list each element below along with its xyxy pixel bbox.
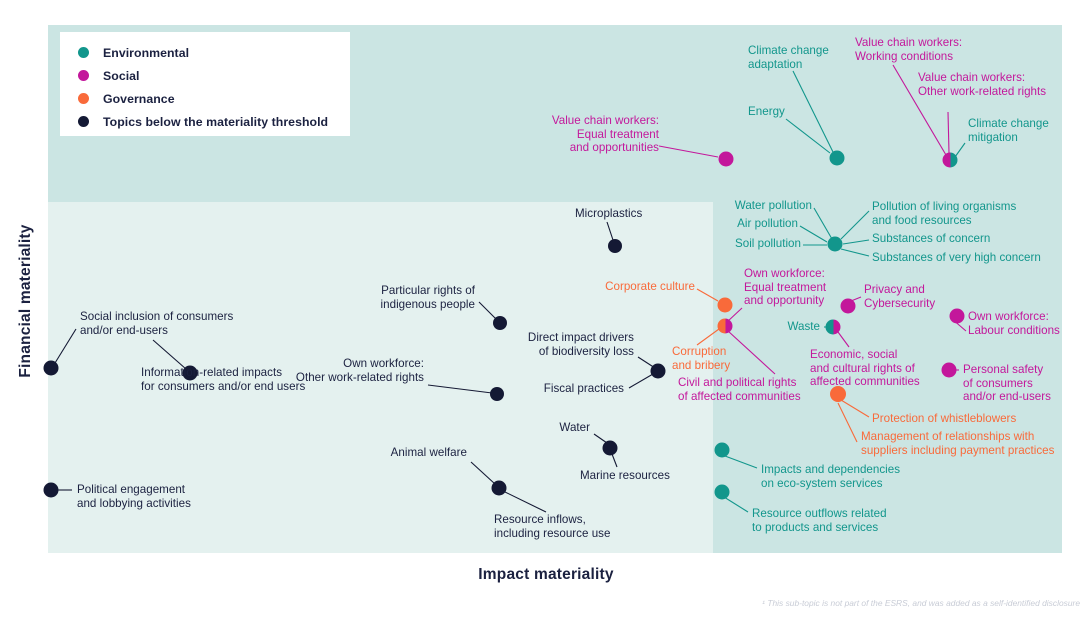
label-value-chain-working-conditions: Value chain workers: Working conditions — [855, 36, 962, 63]
data-point-water-marine-resources[interactable] — [603, 441, 618, 456]
data-point-value-chain-equal-treatment[interactable] — [719, 152, 734, 167]
legend-label-social: Social — [103, 69, 140, 83]
label-fiscal-practices: Fiscal practices — [470, 382, 624, 396]
label-substances-very-high-concern: Substances of very high concern — [872, 251, 1041, 265]
label-corruption-and-bribery: Corruption and bribery — [672, 345, 730, 372]
label-air-pollution: Air pollution — [694, 217, 798, 231]
materiality-matrix-chart: Value chain workers: Equal treatment and… — [0, 0, 1092, 623]
label-water: Water — [466, 421, 590, 435]
legend-dot-below-threshold — [78, 116, 89, 127]
chart-legend: Environmental Social Governance Topics b… — [60, 32, 350, 136]
data-point-climate-adaptation-energy[interactable] — [830, 151, 845, 166]
label-resource-outflows: Resource outflows related to products an… — [752, 507, 887, 534]
data-point-pollution-cluster[interactable] — [828, 237, 843, 252]
label-social-inclusion-consumers: Social inclusion of consumers and/or end… — [80, 310, 233, 337]
chart-footnote: ¹ This sub-topic is not part of the ESRS… — [762, 598, 1080, 608]
y-axis-title: Financial materiality — [17, 201, 35, 401]
label-microplastics: Microplastics — [575, 207, 642, 221]
label-pollution-living-organisms: Pollution of living organisms and food r… — [872, 200, 1016, 227]
label-climate-change-mitigation: Climate change mitigation — [968, 117, 1049, 144]
legend-item-environmental[interactable]: Environmental — [78, 41, 350, 64]
data-point-waste-economic-social-rights[interactable] — [826, 320, 841, 335]
label-value-chain-equal-treatment: Value chain workers: Equal treatment and… — [399, 114, 659, 155]
data-point-own-workforce-labour-conditions[interactable] — [950, 309, 965, 324]
data-point-resource-outflows[interactable] — [715, 485, 730, 500]
label-particular-rights-indigenous: Particular rights of indigenous people — [309, 284, 475, 311]
data-point-personal-safety-consumers[interactable] — [942, 363, 957, 378]
label-marine-resources: Marine resources — [580, 469, 670, 483]
dot-half-social — [943, 153, 951, 168]
data-point-privacy-cybersecurity[interactable] — [841, 299, 856, 314]
data-point-microplastics[interactable] — [608, 239, 622, 253]
label-resource-inflows: Resource inflows, including resource use — [494, 513, 610, 540]
data-point-corporate-culture[interactable] — [718, 298, 733, 313]
label-personal-safety-consumers: Personal safety of consumers and/or end-… — [963, 363, 1051, 404]
label-energy: Energy — [748, 105, 785, 119]
label-impacts-ecosystem-services: Impacts and dependencies on eco-system s… — [761, 463, 900, 490]
label-water-pollution: Water pollution — [694, 199, 812, 213]
label-political-engagement: Political engagement and lobbying activi… — [77, 483, 191, 510]
label-substances-of-concern: Substances of concern — [872, 232, 990, 246]
dot-half-environmental — [950, 153, 958, 168]
legend-dot-environmental — [78, 47, 89, 58]
label-civil-political-rights: Civil and political rights of affected c… — [678, 376, 801, 403]
label-privacy-cybersecurity: Privacy and Cybersecurity — [864, 283, 935, 310]
data-point-climate-mitigation-value-chain[interactable] — [943, 153, 958, 168]
label-own-workforce-equal-treatment: Own workforce: Equal treatment and oppor… — [744, 267, 826, 308]
label-protection-whistleblowers: Protection of whistleblowers — [872, 412, 1016, 426]
legend-item-below-threshold[interactable]: Topics below the materiality threshold — [78, 110, 350, 133]
data-point-ecosystem-services[interactable] — [715, 443, 730, 458]
data-point-social-inclusion-consumers[interactable] — [44, 361, 59, 376]
dot-half-social — [833, 320, 841, 335]
dot-half-social — [725, 319, 733, 334]
label-waste: Waste — [740, 320, 820, 334]
label-value-chain-other-rights: Value chain workers: Other work-related … — [918, 71, 1046, 98]
data-point-biodiversity-fiscal-practices[interactable] — [651, 364, 666, 379]
dot-half-environmental — [826, 320, 834, 335]
legend-item-governance[interactable]: Governance — [78, 87, 350, 110]
x-axis-title: Impact materiality — [0, 566, 1092, 584]
data-point-indigenous-rights[interactable] — [493, 316, 507, 330]
label-climate-change-adaptation: Climate change adaptation — [748, 44, 829, 71]
data-point-animal-welfare-resource-inflows[interactable] — [492, 481, 507, 496]
label-corporate-culture: Corporate culture — [547, 280, 695, 294]
legend-label-governance: Governance — [103, 92, 175, 106]
legend-dot-governance — [78, 93, 89, 104]
legend-label-environmental: Environmental — [103, 46, 189, 60]
label-animal-welfare: Animal welfare — [330, 446, 467, 460]
dot-half-governance — [718, 319, 726, 334]
legend-item-social[interactable]: Social — [78, 64, 350, 87]
legend-dot-social — [78, 70, 89, 81]
label-management-supplier-relationships: Management of relationships with supplie… — [861, 430, 1054, 457]
label-direct-impact-biodiversity: Direct impact drivers of biodiversity lo… — [444, 331, 634, 358]
label-own-workforce-labour-conditions: Own workforce: Labour conditions — [968, 310, 1060, 337]
label-information-related-impacts: Information-related impacts for consumer… — [141, 366, 305, 393]
label-economic-social-cultural-rights: Economic, social and cultural rights of … — [810, 348, 920, 389]
data-point-political-engagement[interactable] — [44, 483, 59, 498]
data-point-corruption-own-workforce-equal[interactable] — [718, 319, 733, 334]
legend-label-below-threshold: Topics below the materiality threshold — [103, 115, 328, 129]
label-soil-pollution: Soil pollution — [694, 237, 801, 251]
